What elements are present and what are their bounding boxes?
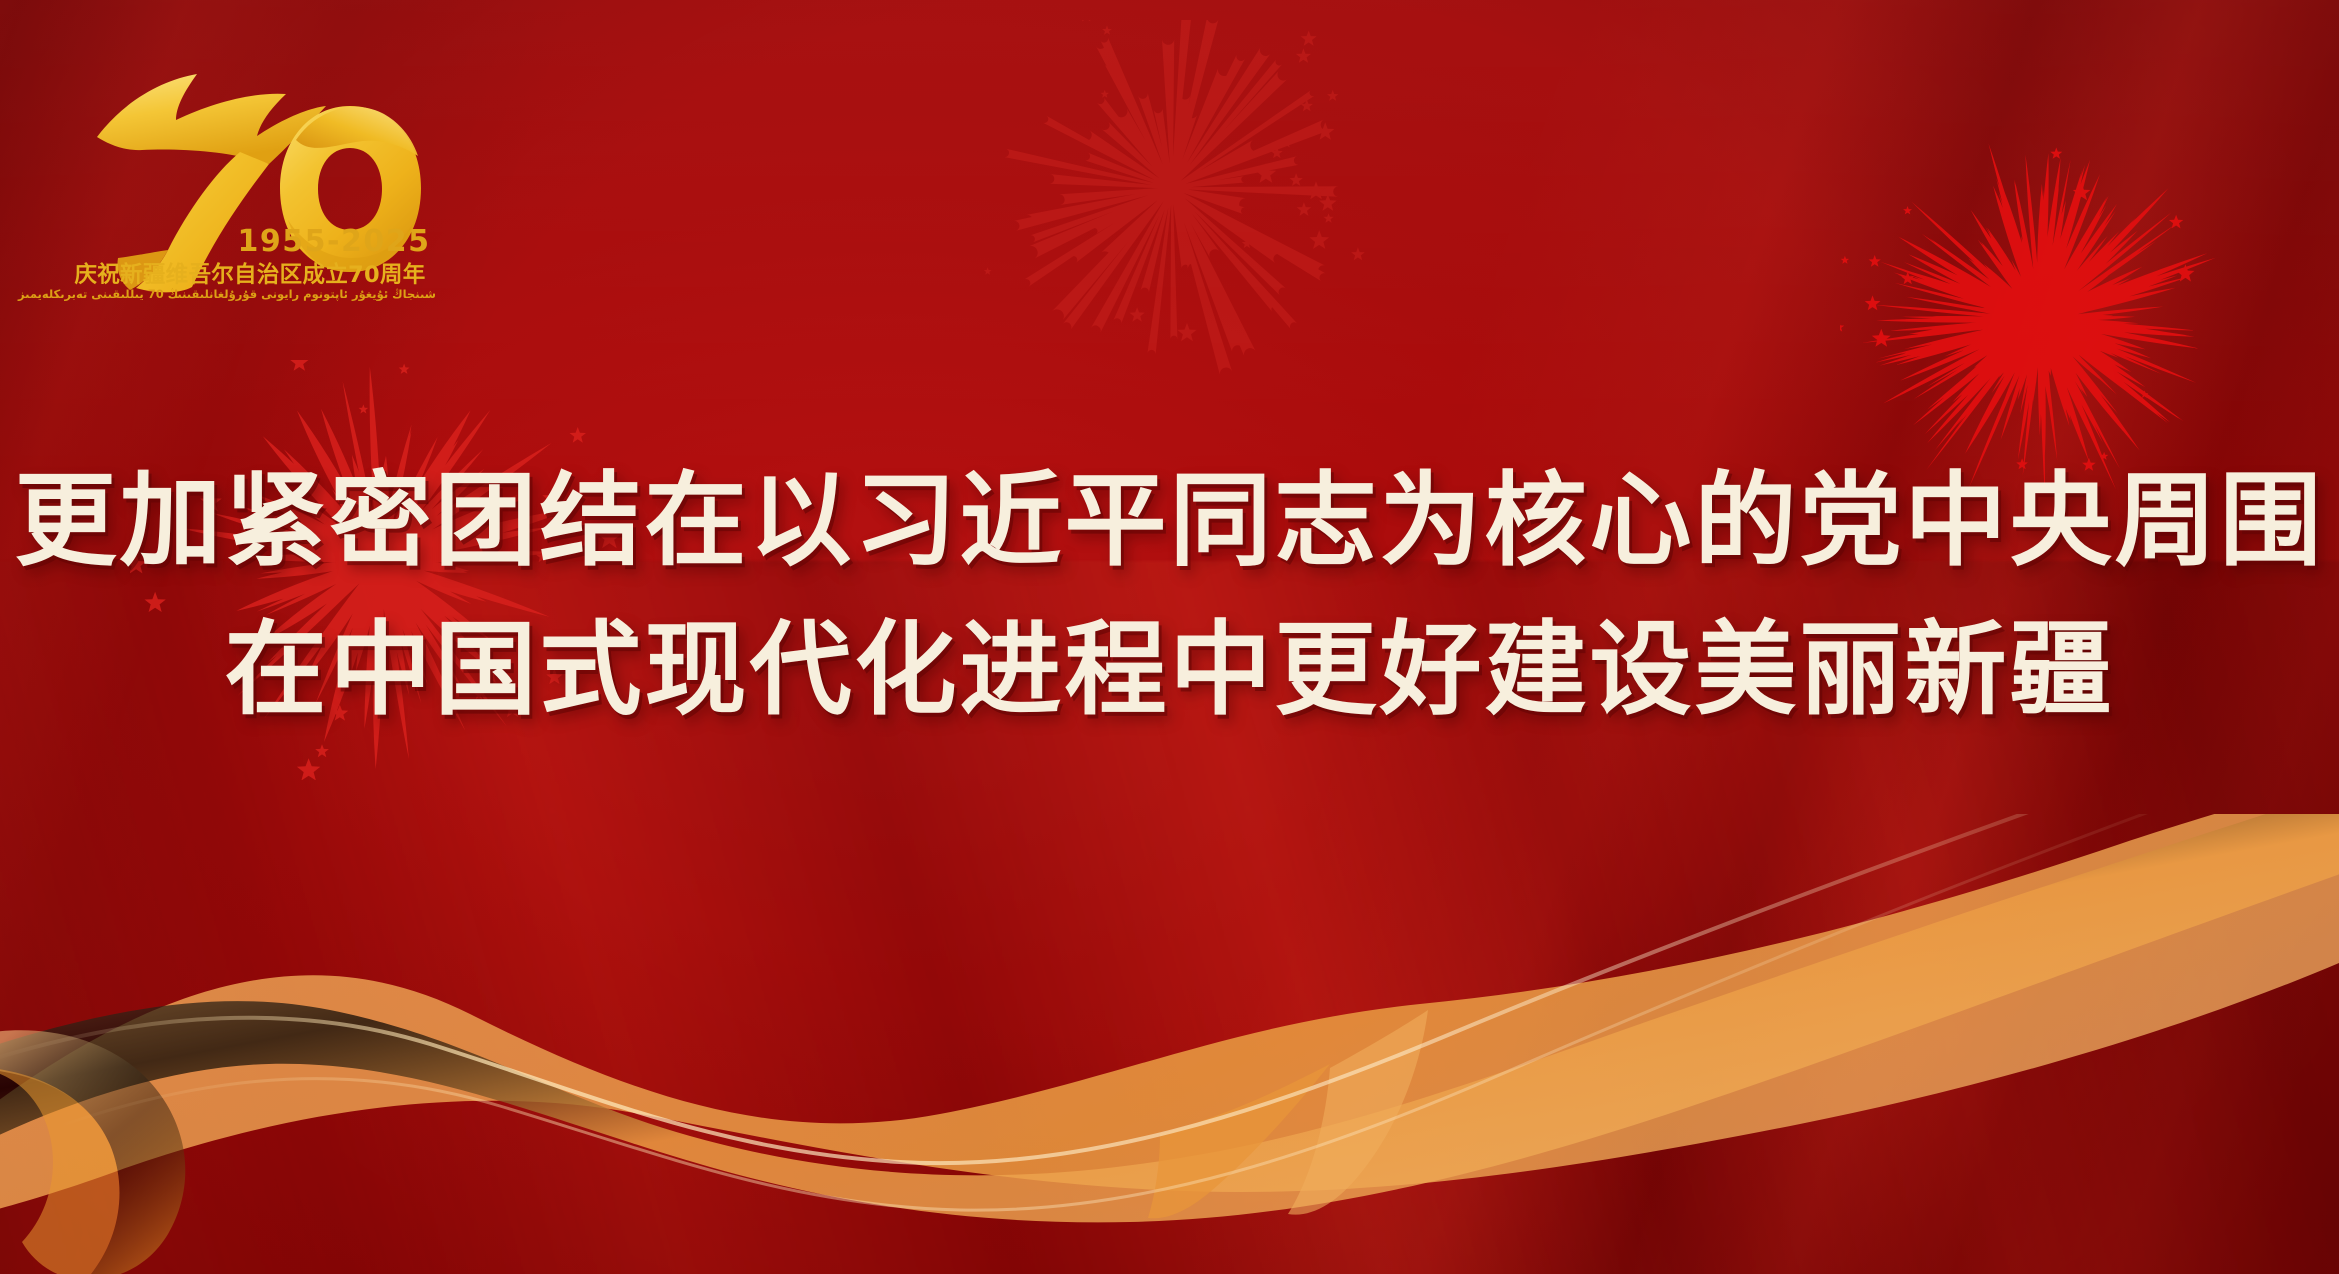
firework-right-icon (1840, 130, 2270, 490)
firework-top-icon (960, 20, 1380, 380)
emblem-uyghur-subtitle: شىنجاڭ ئۇيغۇر ئاپتونوم رايونى قۇرۇلغانلى… (64, 287, 436, 301)
banner-canvas: 1955-2025 庆祝新疆维吾尔自治区成立70周年 شىنجاڭ ئۇيغۇر… (0, 0, 2339, 1274)
emblem-chinese-subtitle: 庆祝新疆维吾尔自治区成立70周年 (64, 257, 436, 289)
anniversary-emblem: 1955-2025 庆祝新疆维吾尔自治区成立70周年 شىنجاڭ ئۇيغۇر… (64, 44, 436, 354)
headline-line-2: 在中国式现代化进程中更好建设美丽新疆 (0, 604, 2339, 737)
headline-line-1: 更加紧密团结在以习近平同志为核心的党中央周围 (0, 455, 2339, 588)
headline-block: 更加紧密团结在以习近平同志为核心的党中央周围 在中国式现代化进程中更好建设美丽新… (0, 455, 2339, 736)
emblem-years: 1955-2025 (232, 224, 436, 259)
